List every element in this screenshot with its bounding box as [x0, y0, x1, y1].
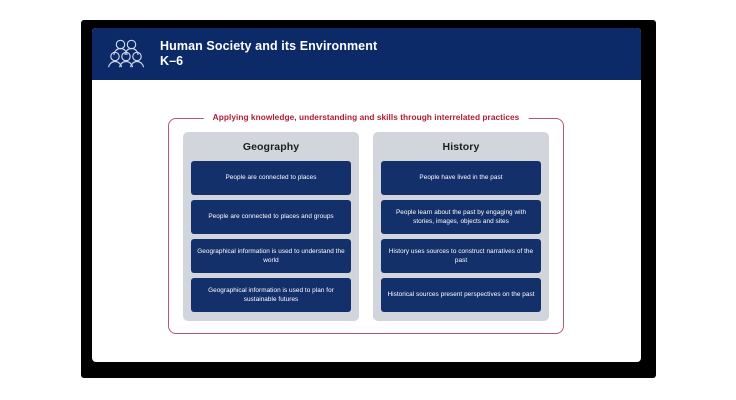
page-subtitle: K–6 — [160, 54, 377, 69]
slide-card: Human Society and its Environment K–6 Ap… — [92, 28, 641, 362]
statement-text: People are connected to places — [225, 173, 316, 183]
statement-card: People are connected to places — [191, 161, 351, 195]
slide-header: Human Society and its Environment K–6 — [92, 28, 641, 80]
statement-card: Geographical information is used to plan… — [191, 278, 351, 312]
subject-title-geography: Geography — [191, 140, 351, 154]
statement-text: People are connected to places and group… — [208, 212, 333, 222]
statement-card: People have lived in the past — [381, 161, 541, 195]
statement-text: People learn about the past by engaging … — [387, 208, 535, 227]
statement-text: People have lived in the past — [419, 173, 502, 183]
statement-card: Geographical information is used to unde… — [191, 239, 351, 273]
statement-text: Historical sources present perspectives … — [387, 290, 534, 300]
statement-card: Historical sources present perspectives … — [381, 278, 541, 312]
page-title: Human Society and its Environment — [160, 39, 377, 54]
statement-text: Geographical information is used to plan… — [197, 286, 345, 305]
subject-panel-history: History People have lived in the past Pe… — [373, 132, 549, 321]
device-frame: Human Society and its Environment K–6 Ap… — [81, 20, 656, 378]
subject-columns: Geography People are connected to places… — [183, 132, 549, 321]
group-of-people-icon — [108, 38, 144, 70]
statement-card: History uses sources to construct narrat… — [381, 239, 541, 273]
statement-text: Geographical information is used to unde… — [197, 247, 345, 266]
statement-card: People are connected to places and group… — [191, 200, 351, 234]
subject-panel-geography: Geography People are connected to places… — [183, 132, 359, 321]
subject-title-history: History — [381, 140, 541, 154]
practices-group: Applying knowledge, understanding and sk… — [168, 118, 564, 334]
statement-text: History uses sources to construct narrat… — [387, 247, 535, 266]
statement-list-geography: People are connected to places People ar… — [191, 161, 351, 312]
statement-list-history: People have lived in the past People lea… — [381, 161, 541, 312]
header-text: Human Society and its Environment K–6 — [160, 39, 377, 69]
statement-card: People learn about the past by engaging … — [381, 200, 541, 234]
practices-legend: Applying knowledge, understanding and sk… — [204, 112, 529, 123]
